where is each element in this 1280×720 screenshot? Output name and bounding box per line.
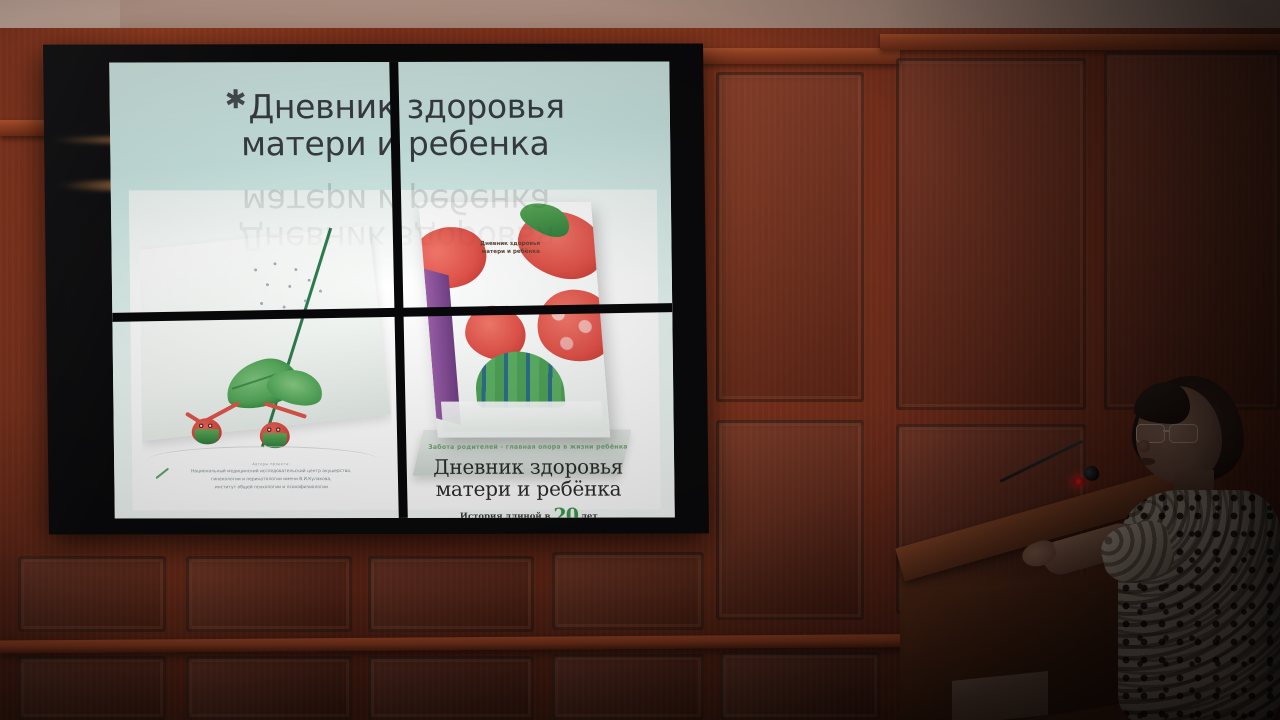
- conference-hall-scene: Дневник здоровья матери и ребенка ✱Дневн…: [0, 0, 1280, 720]
- critter-right-eye-left: [267, 427, 272, 432]
- presenter-hair-front: [1134, 382, 1190, 424]
- crown-molding-left: [700, 48, 900, 64]
- wall-panel-2: [896, 58, 1086, 410]
- crown-molding-right: [880, 34, 1280, 50]
- critter-left-eye-right: [208, 423, 213, 428]
- wall-panel-low-9: [720, 652, 880, 720]
- wall-panel-1: [716, 72, 864, 402]
- critter-left-eye-left: [199, 423, 204, 428]
- video-wall[interactable]: Дневник здоровья матери и ребенка ✱Дневн…: [43, 43, 709, 534]
- presenter-glasses-icon: [1136, 424, 1202, 441]
- wall-panel-low-2: [186, 556, 352, 632]
- caption-label: Авторы проекта:: [162, 462, 380, 466]
- slide-title-text-1: Дневник здоровья: [248, 87, 565, 127]
- wall-panel-low-6: [186, 656, 352, 720]
- presenter-mouth: [1138, 458, 1155, 465]
- wall-panel-low-8: [552, 654, 704, 720]
- critter-left: [192, 418, 222, 444]
- book-front-cover: Дневник здоровья матери и ребёнка: [419, 202, 611, 438]
- years-prefix: История длиной в: [460, 511, 551, 518]
- wall-panel-3: [1104, 52, 1280, 410]
- org-line-1: Национальный медицинский исследовательск…: [162, 468, 380, 477]
- critter-right-eye-right: [276, 427, 281, 432]
- microphone-led-indicator: [1073, 477, 1084, 486]
- years-suffix: лет: [581, 511, 598, 518]
- cover-green-striped-shape: [473, 352, 566, 408]
- org-line-3: институт общей психологии и психофизиоло…: [162, 484, 380, 493]
- years-number: 20: [553, 507, 578, 519]
- left-caption-block: Авторы проекта: Национальный медицинский…: [162, 462, 380, 493]
- book-tagline: Забота родителей - главная опора в жизни…: [400, 444, 656, 451]
- wall-panel-low-1: [18, 556, 166, 632]
- presenter-at-podium: [1108, 382, 1280, 720]
- book-years-line: История длиной в 20 лет: [401, 506, 657, 518]
- wall-panel-4: [716, 420, 864, 620]
- book-title-line-2: матери и ребёнка: [400, 478, 656, 500]
- cover-mini-title: Дневник здоровья матери и ребёнка: [474, 240, 548, 256]
- presenter-nose: [1138, 440, 1150, 452]
- wall-panel-low-4: [552, 552, 704, 630]
- presentation-slide[interactable]: Дневник здоровья матери и ребенка ✱Дневн…: [109, 62, 675, 519]
- book-title-line-1: Дневник здоровья: [400, 456, 656, 478]
- wall-panel-low-5: [18, 656, 166, 720]
- right-caption-block: Забота родителей - главная опора в жизни…: [400, 444, 657, 519]
- critter-left-cap: [195, 429, 219, 444]
- asterisk-bullet-icon: ✱: [225, 85, 247, 115]
- glasses-lens-right: [1169, 424, 1198, 443]
- wall-panel-low-3: [368, 556, 534, 632]
- book-cover-lower-white-area: [441, 401, 604, 431]
- wall-panel-low-7: [368, 656, 534, 720]
- critter-right: [260, 422, 290, 448]
